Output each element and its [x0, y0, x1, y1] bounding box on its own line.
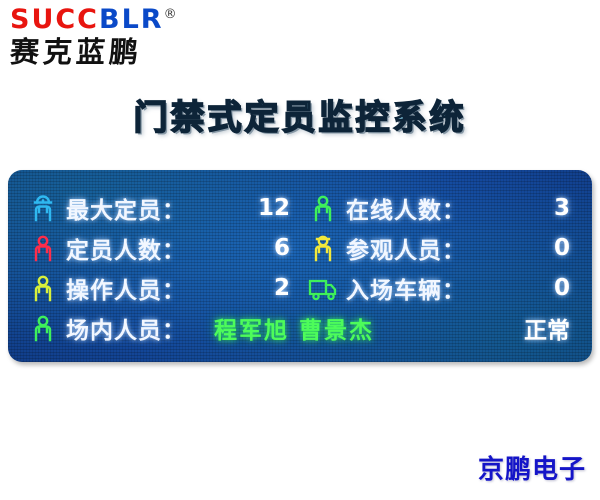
- led-field-online-count: 在线人数： 3: [306, 191, 574, 225]
- led-label: 最大定员：: [66, 191, 186, 225]
- logo-latin-text: SUCCBLR®: [10, 6, 240, 33]
- person-icon: [26, 311, 60, 345]
- registered-trademark-icon: ®: [164, 7, 177, 22]
- led-row: 操作人员： 2 入场车辆： 0: [26, 268, 574, 308]
- led-value: 3: [554, 195, 574, 221]
- led-value: 12: [258, 195, 306, 221]
- logo-chinese-text: 赛克蓝鹏: [9, 36, 241, 69]
- led-row-onsite-personnel: 场内人员： 程军旭 曹景杰 正常: [26, 308, 574, 348]
- status-badge: 正常: [524, 311, 574, 345]
- led-row: 定员人数： 6 参观人员： 0: [26, 228, 574, 268]
- person-icon: [306, 191, 340, 225]
- led-label: 定员人数：: [66, 231, 186, 265]
- led-row: 最大定员： 12 在线人数： 3: [26, 188, 574, 228]
- led-value: 0: [554, 275, 574, 301]
- led-value: 0: [554, 235, 574, 261]
- led-label: 参观人员：: [346, 231, 466, 265]
- led-value: 6: [274, 235, 306, 261]
- company-logo: SUCCBLR® 赛克蓝鹏: [10, 6, 240, 76]
- led-field-vehicle-count: 入场车辆： 0: [306, 271, 574, 305]
- onsite-personnel-names: 程军旭 曹景杰: [186, 311, 524, 345]
- led-label: 场内人员：: [66, 311, 186, 345]
- led-label: 操作人员：: [66, 271, 186, 305]
- led-field-assigned-count: 定员人数： 6: [26, 231, 306, 265]
- logo-text-blr: BLR: [99, 4, 164, 35]
- footer-company-name: 京鹏电子: [478, 449, 586, 486]
- person-hat-icon: [306, 231, 340, 265]
- logo-text-succ: SUCC: [10, 4, 99, 35]
- page-title: 门禁式定员监控系统: [0, 90, 600, 139]
- person-icon: [26, 271, 60, 305]
- led-value: 2: [274, 275, 306, 301]
- led-label: 在线人数：: [346, 191, 466, 225]
- led-field-max-capacity: 最大定员： 12: [26, 191, 306, 225]
- led-field-visitor-count: 参观人员： 0: [306, 231, 574, 265]
- led-display-panel: 最大定员： 12 在线人数： 3: [8, 170, 592, 362]
- led-label: 入场车辆：: [346, 271, 466, 305]
- led-field-operator-count: 操作人员： 2: [26, 271, 306, 305]
- person-icon: [26, 231, 60, 265]
- person-helmet-icon: [26, 191, 60, 225]
- truck-icon: [306, 271, 340, 305]
